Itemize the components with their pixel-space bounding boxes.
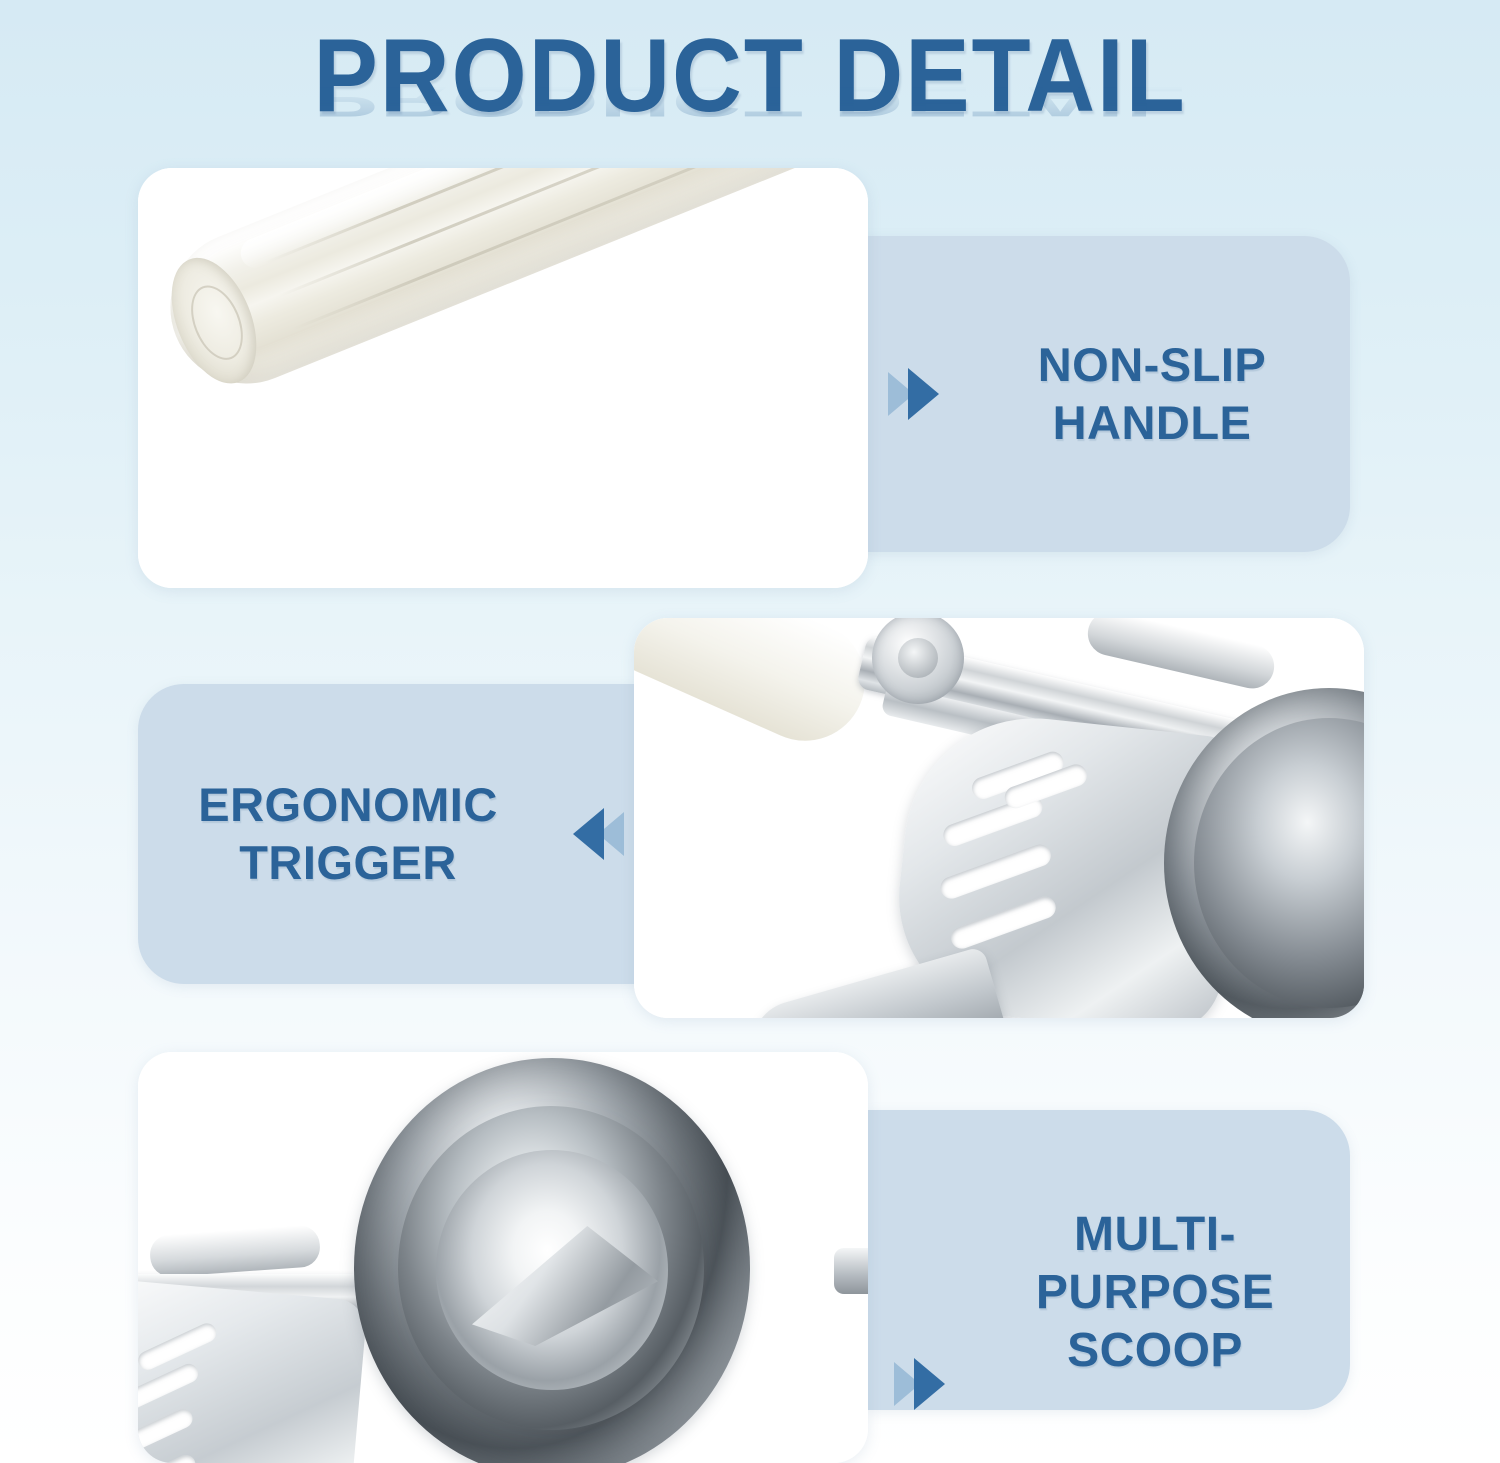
scoop-bowl-shape bbox=[354, 1058, 750, 1463]
feature-label-line1: MULTI-PURPOSE bbox=[1036, 1208, 1274, 1319]
feature-row-multi-purpose-scoop: MULTI-PURPOSE SCOOP bbox=[0, 0, 1500, 1463]
feature-label-text-multi-purpose-scoop: MULTI-PURPOSE SCOOP bbox=[960, 1206, 1350, 1380]
feature-label-panel-multi-purpose-scoop: MULTI-PURPOSE SCOOP bbox=[868, 1110, 1350, 1410]
double-chevron-right-icon bbox=[894, 1358, 960, 1410]
feature-label-line2: SCOOP bbox=[1067, 1324, 1243, 1377]
feature-photo-multi-purpose-scoop bbox=[138, 1052, 868, 1463]
trigger-plate-shape bbox=[138, 1275, 368, 1463]
scoop-photo-graphic bbox=[138, 1052, 868, 1463]
